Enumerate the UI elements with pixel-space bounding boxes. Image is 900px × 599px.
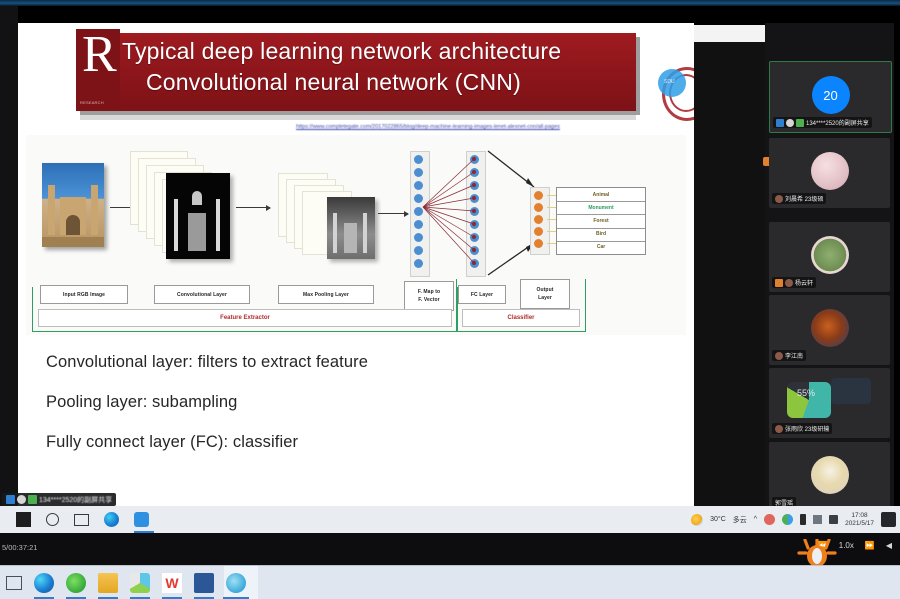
avatar: [811, 309, 849, 347]
chevron-up-icon[interactable]: ^: [754, 516, 757, 523]
meeting-icon[interactable]: [134, 512, 149, 527]
badge-subtext: RESEARCH: [80, 100, 104, 105]
badge-letter: R: [82, 25, 117, 84]
mic-muted-icon: [775, 195, 783, 203]
player-control-bar[interactable]: 5/00:37:21 ⏪ 1.0x ⏩ ◀: [0, 533, 900, 565]
mic-icon: [28, 495, 37, 504]
video-player-root: 录制中 腾讯会议 ─ □ ✕ Typical deep learning net…: [0, 0, 900, 599]
clock-date: 2021/5/17: [845, 520, 874, 527]
output-class-monument: Monument: [557, 201, 645, 215]
pooled-feature-map-image: [327, 197, 375, 259]
start-icon[interactable]: [16, 512, 31, 527]
institution-badge: R RESEARCH: [76, 29, 120, 111]
video-off-icon: [786, 119, 794, 127]
conv-feature-map-image: [166, 173, 230, 259]
participant-name: 李江南: [785, 351, 803, 360]
mic-icon: [796, 119, 804, 127]
mic-muted-icon: [785, 279, 793, 287]
avatar: [811, 236, 849, 274]
recorded-screen: 录制中 腾讯会议 ─ □ ✕ Typical deep learning net…: [0, 6, 900, 533]
slide-content: Typical deep learning network architectu…: [18, 23, 694, 508]
mic-muted-icon: [775, 352, 783, 360]
arrow-conv-to-pool: [236, 207, 270, 208]
arrow-pool-to-vector: [378, 213, 408, 214]
avatar: 20: [812, 76, 850, 114]
volume-icon[interactable]: [813, 515, 822, 524]
participant-icon: [6, 495, 15, 504]
output-class-list: Animal Monument Forest Bird Car: [556, 187, 646, 255]
clock-time: 17:08: [851, 512, 867, 519]
task-view-icon[interactable]: [74, 514, 89, 526]
taskbar-left-icons: [16, 506, 149, 533]
participant-name-chip: 刘晨希 23级硕: [772, 193, 826, 204]
input-rgb-image: [42, 163, 104, 247]
shared-slide: Typical deep learning network architectu…: [18, 23, 694, 508]
cnn-architecture-diagram: Animal Monument Forest Bird Car Input RG…: [26, 135, 686, 335]
avatar-dashboard-value: 55%: [797, 388, 815, 398]
weather-temp: 30°C: [710, 516, 726, 523]
edge-icon[interactable]: [34, 573, 54, 593]
banner-underline: [80, 115, 636, 120]
participant-name: 杨云轩: [795, 278, 813, 287]
output-class-bird: Bird: [557, 228, 645, 242]
host-taskbar-icons: W: [6, 566, 246, 599]
file-explorer-icon[interactable]: [98, 573, 118, 593]
bullet-pool-layer: Pooling layer: subampling: [46, 393, 646, 412]
slide-title-banner: Typical deep learning network architectu…: [76, 33, 636, 111]
participant-rail[interactable]: 20 134****2520的副屏共享 正在讲话: 134****2520的 刘…: [765, 23, 894, 508]
logo-circle-icon: SDU: [658, 69, 686, 97]
player-icon[interactable]: [226, 573, 246, 593]
participant-name-chip: 张雨欣 23级研输: [772, 423, 832, 434]
logo-circle-text: SDU: [664, 79, 675, 85]
search-icon[interactable]: [46, 513, 59, 526]
avatar-dashboard-panel: [831, 378, 871, 404]
participant-tile-3[interactable]: 李江南: [769, 295, 890, 365]
participant-name-chip: 134****2520的副屏共享: [773, 117, 872, 128]
hand-raise-icon: [775, 279, 783, 287]
share-owner-name: 134****2520的副屏共享: [39, 495, 112, 505]
ime-icon[interactable]: [829, 515, 838, 524]
player-timestamp: 5/00:37:21: [2, 543, 37, 552]
notification-icon[interactable]: [881, 512, 896, 527]
participant-name: 张雨欣 23级研输: [785, 424, 829, 433]
weather-desc: 多云: [733, 515, 747, 525]
participant-name-chip: 李江南: [772, 350, 806, 361]
participant-name: 134****2520的副屏共享: [806, 118, 869, 127]
edge-icon[interactable]: [104, 512, 119, 527]
taskbar-clock[interactable]: 17:08 2021/5/17: [845, 512, 874, 528]
participant-tile-2[interactable]: 杨云轩: [769, 222, 890, 292]
shield-icon[interactable]: [764, 514, 775, 525]
host-taskbar[interactable]: W: [0, 565, 900, 599]
participant-icon: [776, 119, 784, 127]
wps-icon[interactable]: W: [162, 573, 182, 593]
participant-name-chip: 杨云轩: [772, 277, 816, 288]
word-icon[interactable]: [194, 573, 214, 593]
mic-muted-icon: [775, 425, 783, 433]
bullet-fc-layer: Fully connect layer (FC): classifier: [46, 433, 646, 452]
windows-taskbar[interactable]: 30°C 多云 ^ 17:08 2021/5/17: [0, 506, 900, 533]
group-label-classifier: Classifier: [462, 309, 580, 327]
weather-icon[interactable]: [691, 514, 703, 526]
participant-name: 刘晨希 23级硕: [785, 194, 823, 203]
wechat-icon[interactable]: [66, 573, 86, 593]
slide-title-line2: Convolutional neural network (CNN): [146, 69, 521, 96]
slide-title-line1: Typical deep learning network architectu…: [122, 38, 561, 65]
group-label-feature-extractor: Feature Extractor: [38, 309, 452, 327]
output-class-animal: Animal: [557, 188, 645, 202]
participant-tile-5[interactable]: 郭雪瑶: [769, 442, 890, 512]
show-desktop-icon[interactable]: [6, 576, 22, 590]
participant-tile-0[interactable]: 20 134****2520的副屏共享: [769, 61, 892, 133]
bullet-conv-layer: Convolutional layer: filters to extract …: [46, 353, 646, 372]
source-url-link[interactable]: https://www.completegate.com/2017022865/…: [228, 124, 628, 130]
sync-icon[interactable]: [130, 573, 150, 593]
avatar: [811, 456, 849, 494]
output-class-forest: Forest: [557, 214, 645, 228]
slide-bullet-list: Convolutional layer: filters to extract …: [46, 353, 646, 473]
participant-tile-1[interactable]: 刘晨希 23级硕: [769, 138, 890, 208]
share-owner-chip: 134****2520的副屏共享: [2, 493, 116, 506]
video-off-icon: [17, 495, 26, 504]
network-icon[interactable]: [782, 514, 793, 525]
taskbar-tray: 30°C 多云 ^ 17:08 2021/5/17: [691, 506, 896, 533]
battery-icon[interactable]: [800, 514, 806, 525]
output-class-car: Car: [557, 241, 645, 254]
avatar: [811, 152, 849, 190]
participant-tile-4[interactable]: 55% 张雨欣 23级研输: [769, 368, 890, 438]
